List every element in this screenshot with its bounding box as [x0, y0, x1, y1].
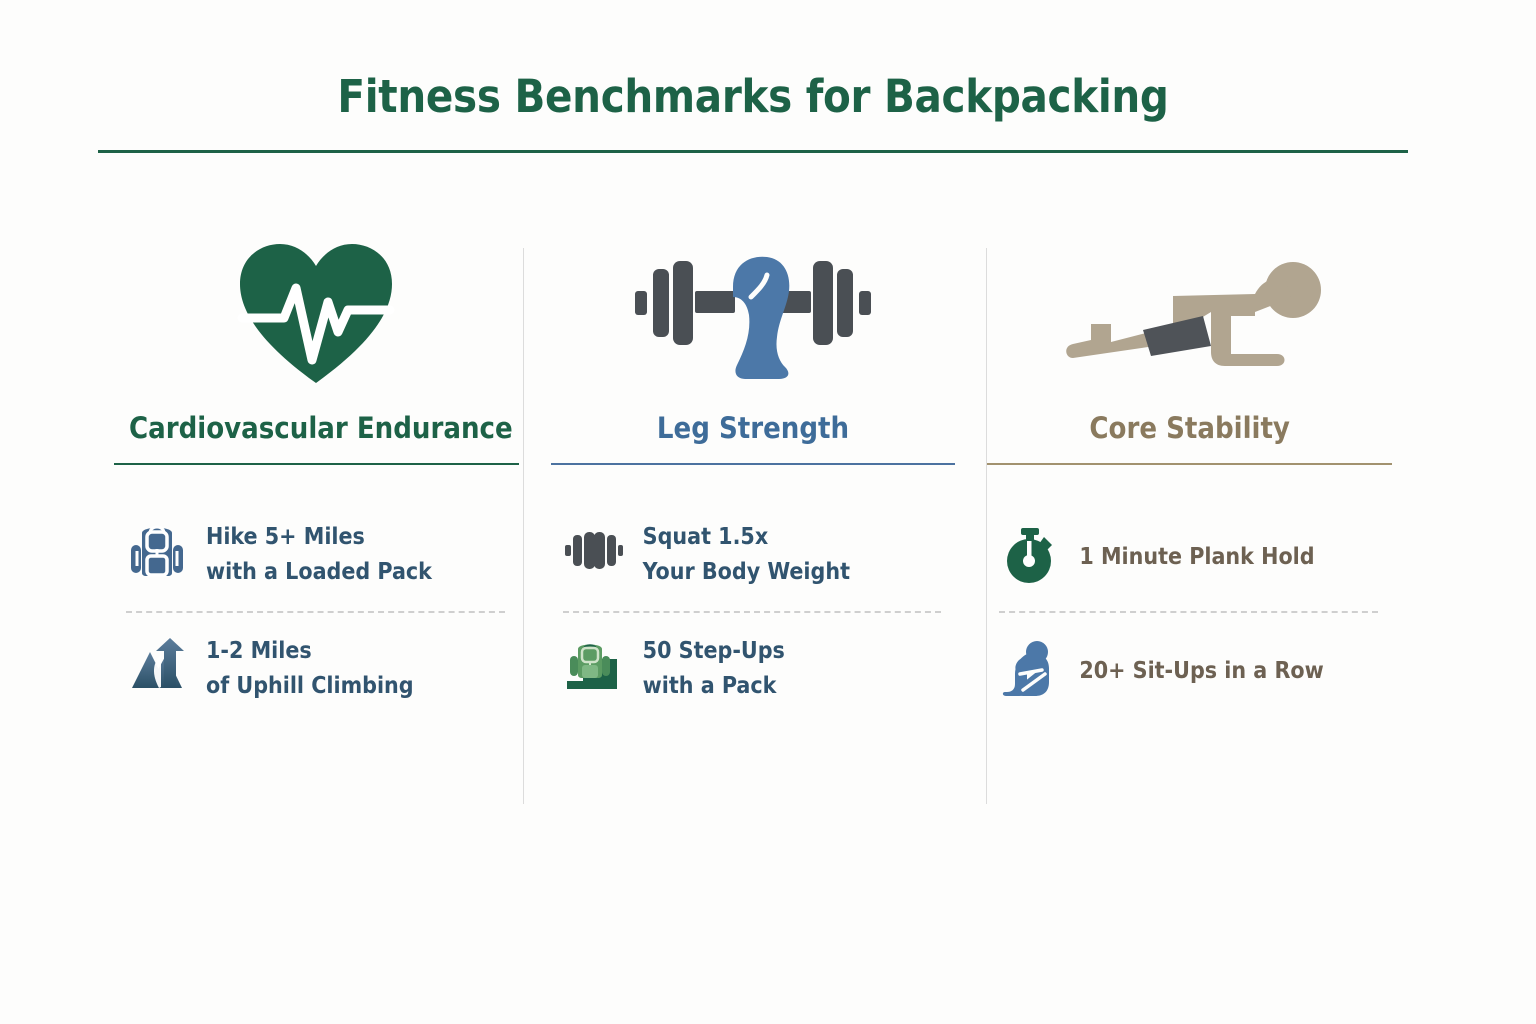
column-cardiovascular-endurance: Cardiovascular Endurance [98, 240, 535, 810]
barbell-leg-icon [633, 245, 873, 385]
column-heading-underline-cardio [114, 463, 519, 465]
benchmark-item: 1 Minute Plank Hold [987, 513, 1392, 597]
benchmark-item: 20+ Sit-Ups in a Row [987, 627, 1392, 711]
backpack-icon [128, 521, 186, 579]
benchmark-item: Hike 5+ Miles with a Loaded Pack [114, 513, 519, 597]
benchmark-line-1: 1 Minute Plank Hold [1079, 544, 1314, 570]
icon-wrap [126, 631, 188, 697]
benchmark-text: 1 Minute Plank Hold [1079, 537, 1314, 575]
hero-icon-wrap-leg [551, 240, 956, 390]
column-heading-leg: Leg Strength [551, 412, 956, 445]
column-leg-strength: Leg Strength [535, 240, 972, 810]
title-underline [98, 150, 1408, 153]
benchmark-line-1: Squat 1.5x [643, 524, 769, 550]
plank-figure-icon [1055, 250, 1325, 380]
page-title: Fitness Benchmarks for Backpacking [98, 72, 1408, 122]
stopwatch-icon [1001, 526, 1059, 584]
benchmark-text: 1-2 Miles of Uphill Climbing [206, 631, 414, 703]
benchmark-line-1: 50 Step-Ups [643, 638, 785, 664]
benchmark-text: Hike 5+ Miles with a Loaded Pack [206, 517, 432, 589]
backpack-on-steps [570, 645, 610, 679]
benchmark-item: 1-2 Miles of Uphill Climbing [114, 627, 519, 711]
item-divider [563, 611, 942, 613]
situp-figure-icon [1001, 640, 1059, 698]
benchmark-line-1: 1-2 Miles [206, 638, 312, 664]
column-core-stability: Core Stability [971, 240, 1408, 810]
benchmark-line-1: Hike 5+ Miles [206, 524, 365, 550]
benchmark-text: 20+ Sit-Ups in a Row [1079, 651, 1323, 689]
benchmark-line-1: 20+ Sit-Ups in a Row [1079, 658, 1323, 684]
item-divider [999, 611, 1378, 613]
item-divider [126, 611, 505, 613]
benchmark-item: 50 Step-Ups with a Pack [551, 627, 956, 711]
hero-icon-wrap-cardio [114, 240, 519, 390]
benchmark-list-leg: Squat 1.5x Your Body Weight [551, 513, 956, 711]
icon-wrap [999, 522, 1061, 588]
benchmark-text: Squat 1.5x Your Body Weight [643, 517, 850, 589]
benchmark-item: Squat 1.5x Your Body Weight [551, 513, 956, 597]
benchmark-line-2: with a Pack [643, 669, 785, 704]
header: Fitness Benchmarks for Backpacking [98, 72, 1408, 153]
benchmark-line-2: with a Loaded Pack [206, 555, 432, 590]
column-heading-cardio: Cardiovascular Endurance [114, 412, 519, 445]
column-heading-underline-core [987, 463, 1392, 465]
heart-ecg-icon [236, 240, 396, 390]
icon-wrap [126, 517, 188, 583]
steps-with-backpack-icon [565, 635, 623, 693]
benchmark-line-2: Your Body Weight [643, 555, 850, 590]
icon-wrap [563, 517, 625, 583]
icon-wrap [563, 631, 625, 697]
benchmark-list-core: 1 Minute Plank Hold [987, 513, 1392, 711]
infographic-page: Fitness Benchmarks for Backpacking Cardi… [0, 0, 1536, 1024]
mountain-uphill-arrow-icon [128, 635, 186, 693]
column-heading-underline-leg [551, 463, 956, 465]
dumbbell-icon [565, 530, 623, 570]
leg-silhouette [733, 257, 789, 379]
hero-icon-wrap-core [987, 240, 1392, 390]
benchmark-list-cardio: Hike 5+ Miles with a Loaded Pack [114, 513, 519, 711]
benchmark-line-2: of Uphill Climbing [206, 669, 414, 704]
icon-wrap [999, 636, 1061, 702]
columns-container: Cardiovascular Endurance [98, 240, 1408, 810]
benchmark-text: 50 Step-Ups with a Pack [643, 631, 785, 703]
column-heading-core: Core Stability [987, 412, 1392, 445]
